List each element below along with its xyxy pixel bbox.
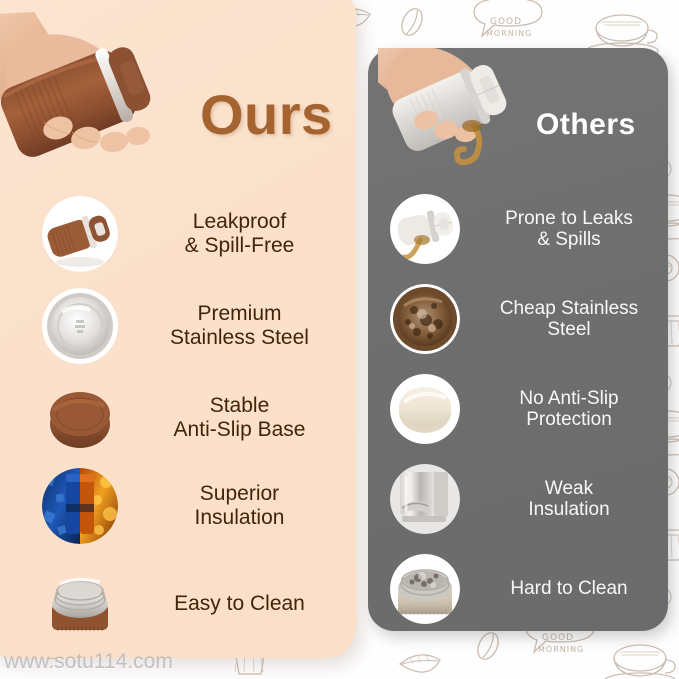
others-feature-1-label: Prone to Leaks & Spills (474, 208, 664, 251)
wide-mouth-opening-icon (42, 566, 118, 642)
ours-feature-2: Premium Stainless Steel (42, 288, 347, 364)
ours-feature-2-label: Premium Stainless Steel (132, 302, 347, 349)
thin-metal-wall-icon (390, 464, 460, 534)
svg-text:GOOD: GOOD (542, 633, 574, 643)
leaking-lid-icon (390, 194, 460, 264)
svg-text:MORNING: MORNING (538, 645, 584, 654)
svg-text:GOOD: GOOD (490, 17, 522, 27)
ours-feature-3-label: Stable Anti-Slip Base (132, 394, 347, 441)
ours-feature-4: Superior Insulation (42, 468, 347, 544)
ours-feature-1: Leakproof & Spill-Free (42, 196, 347, 272)
others-title: Others (536, 108, 636, 142)
others-feature-4-label: Weak Insulation (474, 478, 664, 521)
others-feature-2: Cheap Stainless Steel (390, 284, 664, 354)
ours-feature-5-label: Easy to Clean (132, 592, 347, 616)
stainless-steel-interior-icon (42, 288, 118, 364)
ours-feature-1-label: Leakproof & Spill-Free (132, 210, 347, 257)
ours-hero-image (0, 10, 190, 190)
comparison-graphic: GOOD MORNING GOOD MORNING (0, 0, 679, 679)
ours-feature-4-label: Superior Insulation (132, 482, 347, 529)
ours-title: Ours (200, 82, 333, 147)
others-feature-1: Prone to Leaks & Spills (390, 194, 664, 264)
ours-feature-5: Easy to Clean (42, 566, 347, 642)
others-feature-5-label: Hard to Clean (474, 578, 664, 599)
ours-feature-3: Stable Anti-Slip Base (42, 380, 347, 456)
plain-smooth-base-icon (390, 374, 460, 444)
brown-lid-closeup-icon (42, 196, 118, 272)
site-watermark: www.sotu114.com (4, 650, 173, 674)
dirty-narrow-opening-icon (390, 554, 460, 624)
others-feature-2-label: Cheap Stainless Steel (474, 298, 664, 341)
others-feature-3-label: No Anti-Slip Protection (474, 388, 664, 431)
others-feature-5: Hard to Clean (390, 554, 664, 624)
brown-anti-slip-base-icon (42, 380, 118, 456)
others-feature-3: No Anti-Slip Protection (390, 374, 664, 444)
svg-text:MORNING: MORNING (486, 29, 532, 38)
rusty-stained-interior-icon (390, 284, 460, 354)
hot-cold-insulation-icon (42, 468, 118, 544)
others-feature-4: Weak Insulation (390, 464, 664, 534)
others-hero-image (378, 48, 538, 173)
